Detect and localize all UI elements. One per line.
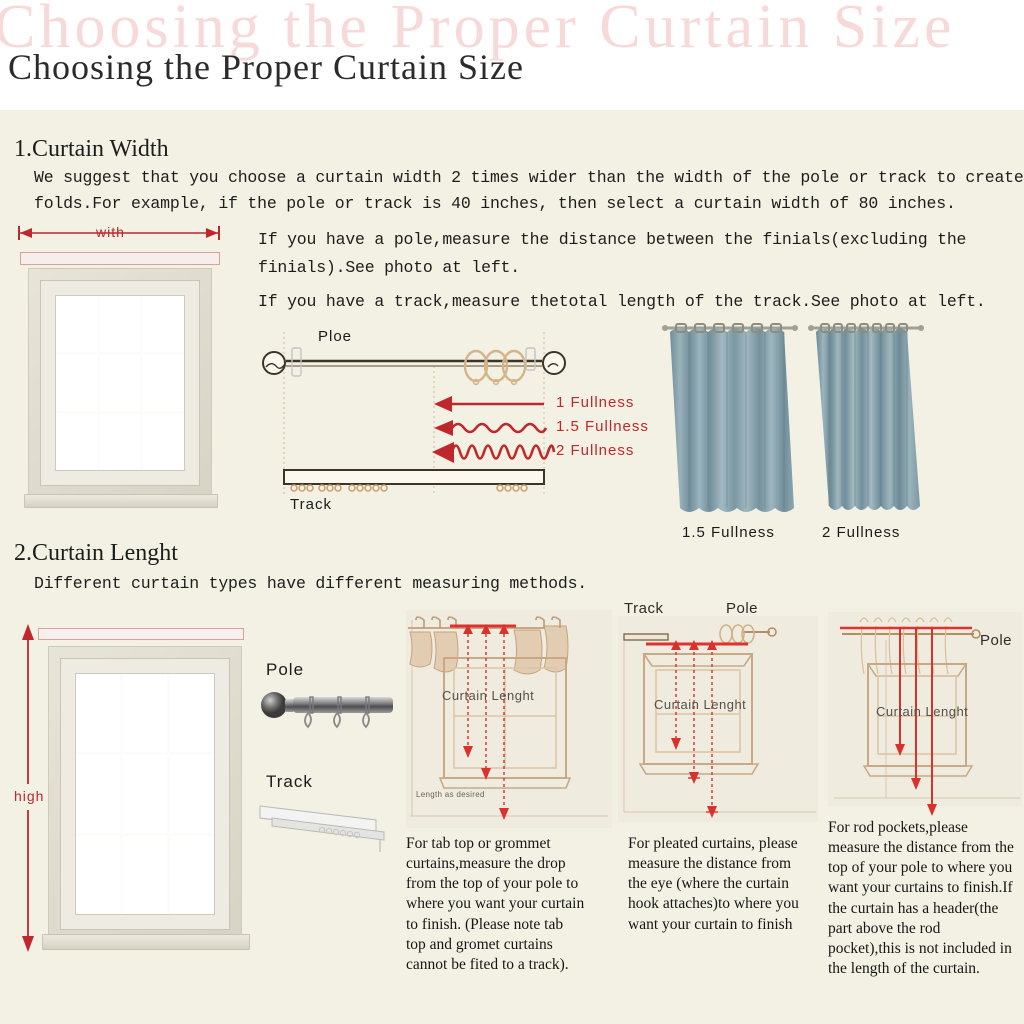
panel-rod-pocket-caption: For rod pockets,please measure the dista… [828, 818, 1014, 979]
section1-paragraph-1: We suggest that you choose a curtain wid… [34, 168, 1024, 187]
section2-heading: 2.Curtain Lenght [14, 540, 178, 567]
hardware-photos: Pole [252, 660, 402, 840]
window-pane [76, 755, 120, 833]
curtain-2-svg [808, 318, 924, 518]
window-pane [76, 836, 120, 914]
tab-top-diagram-svg [400, 604, 618, 834]
panel-pleated-track-label: Track [624, 600, 663, 617]
panel-pleated-caption: For pleated curtains, please measure the… [628, 834, 800, 935]
window-pane [123, 836, 167, 914]
header-banner: Choosing the Proper Curtain Size Choosin… [0, 0, 1024, 110]
panel-rod-pocket-pole-label: Pole [980, 632, 1012, 649]
width-label: with [96, 224, 125, 240]
panel-rod-pocket-diagram-label: Curtain Lenght [876, 704, 968, 719]
panel-pleated-diagram: Track Pole Curtain Lenght [614, 600, 824, 830]
pole-track-fullness-diagram: Ploe Track 1 Fullness 1.5 Fullness 2 Ful… [262, 322, 652, 522]
section2-window-photo: high [6, 606, 242, 966]
rail-bar [20, 252, 220, 265]
rail-bar [38, 628, 244, 640]
curtain-photo-1-5: 1.5 Fullness [662, 318, 798, 536]
section1-right-paragraph-3: If you have a track,measure thetotal len… [258, 292, 986, 311]
track-hardware-label: Track [266, 772, 313, 792]
window-pane [100, 355, 141, 411]
window-pane [56, 414, 97, 470]
infographic-page: Choosing the Proper Curtain Size Choosin… [0, 0, 1024, 1024]
curtain-1-5-caption: 1.5 Fullness [682, 524, 775, 541]
section2-paragraph: Different curtain types have different m… [34, 574, 587, 593]
section1-window-photo: with [10, 216, 238, 516]
window-inner-frame [40, 280, 200, 486]
section1-right-paragraph-1: If you have a pole,measure the distance … [258, 230, 966, 249]
track-label: Track [290, 496, 332, 513]
window-pane [100, 296, 141, 352]
window-pane [170, 674, 214, 752]
panel-tab-top-diagram-label: Curtain Lenght [442, 688, 534, 703]
window-pane [100, 414, 141, 470]
window-pane [123, 674, 167, 752]
height-label: high [14, 788, 44, 804]
window-frame [48, 646, 242, 946]
section1-heading: 1.Curtain Width [14, 136, 169, 163]
fullness-1-label: 1 Fullness [556, 394, 634, 411]
curtain-2-caption: 2 Fullness [822, 524, 900, 541]
fullness-1-5-label: 1.5 Fullness [556, 418, 649, 435]
window-frame [28, 268, 212, 506]
page-title: Choosing the Proper Curtain Size [8, 46, 524, 88]
window-sill [42, 934, 250, 950]
window-panes [75, 673, 215, 915]
fullness-2-label: 2 Fullness [556, 442, 634, 459]
window-inner-frame [60, 658, 230, 930]
track-hardware-icon [256, 798, 401, 853]
window-pane [76, 674, 120, 752]
panel-tab-top-note: Length as desired [416, 790, 485, 799]
panel-tab-top-caption: For tab top or grommet curtains,measure … [406, 834, 586, 975]
section1-paragraph-2: folds.For example, if the pole or track … [34, 194, 956, 213]
window-pane [143, 414, 184, 470]
window-pane [143, 296, 184, 352]
curtain-1-5-svg [662, 318, 798, 518]
pleated-diagram-svg [614, 600, 824, 830]
panel-rod-pocket-diagram: Pole Curtain Lenght [824, 600, 1024, 818]
section1-right-paragraph-2: finials).See photo at left. [258, 258, 520, 277]
window-pane [170, 836, 214, 914]
window-pane [56, 355, 97, 411]
window-pane [56, 296, 97, 352]
window-pane [170, 755, 214, 833]
panel-pleated-pole-label: Pole [726, 600, 758, 617]
pole-hardware-icon [258, 686, 398, 746]
window-panes [55, 295, 185, 471]
panel-tab-top-diagram: Curtain Lenght Length as desired [400, 604, 618, 834]
pole-label: Ploe [318, 328, 352, 345]
window-pane [123, 755, 167, 833]
panel-pleated-diagram-label: Curtain Lenght [654, 697, 746, 712]
window-sill [24, 494, 218, 508]
window-pane [143, 355, 184, 411]
curtain-photo-2: 2 Fullness [808, 318, 924, 536]
pole-hardware-label: Pole [266, 660, 304, 680]
